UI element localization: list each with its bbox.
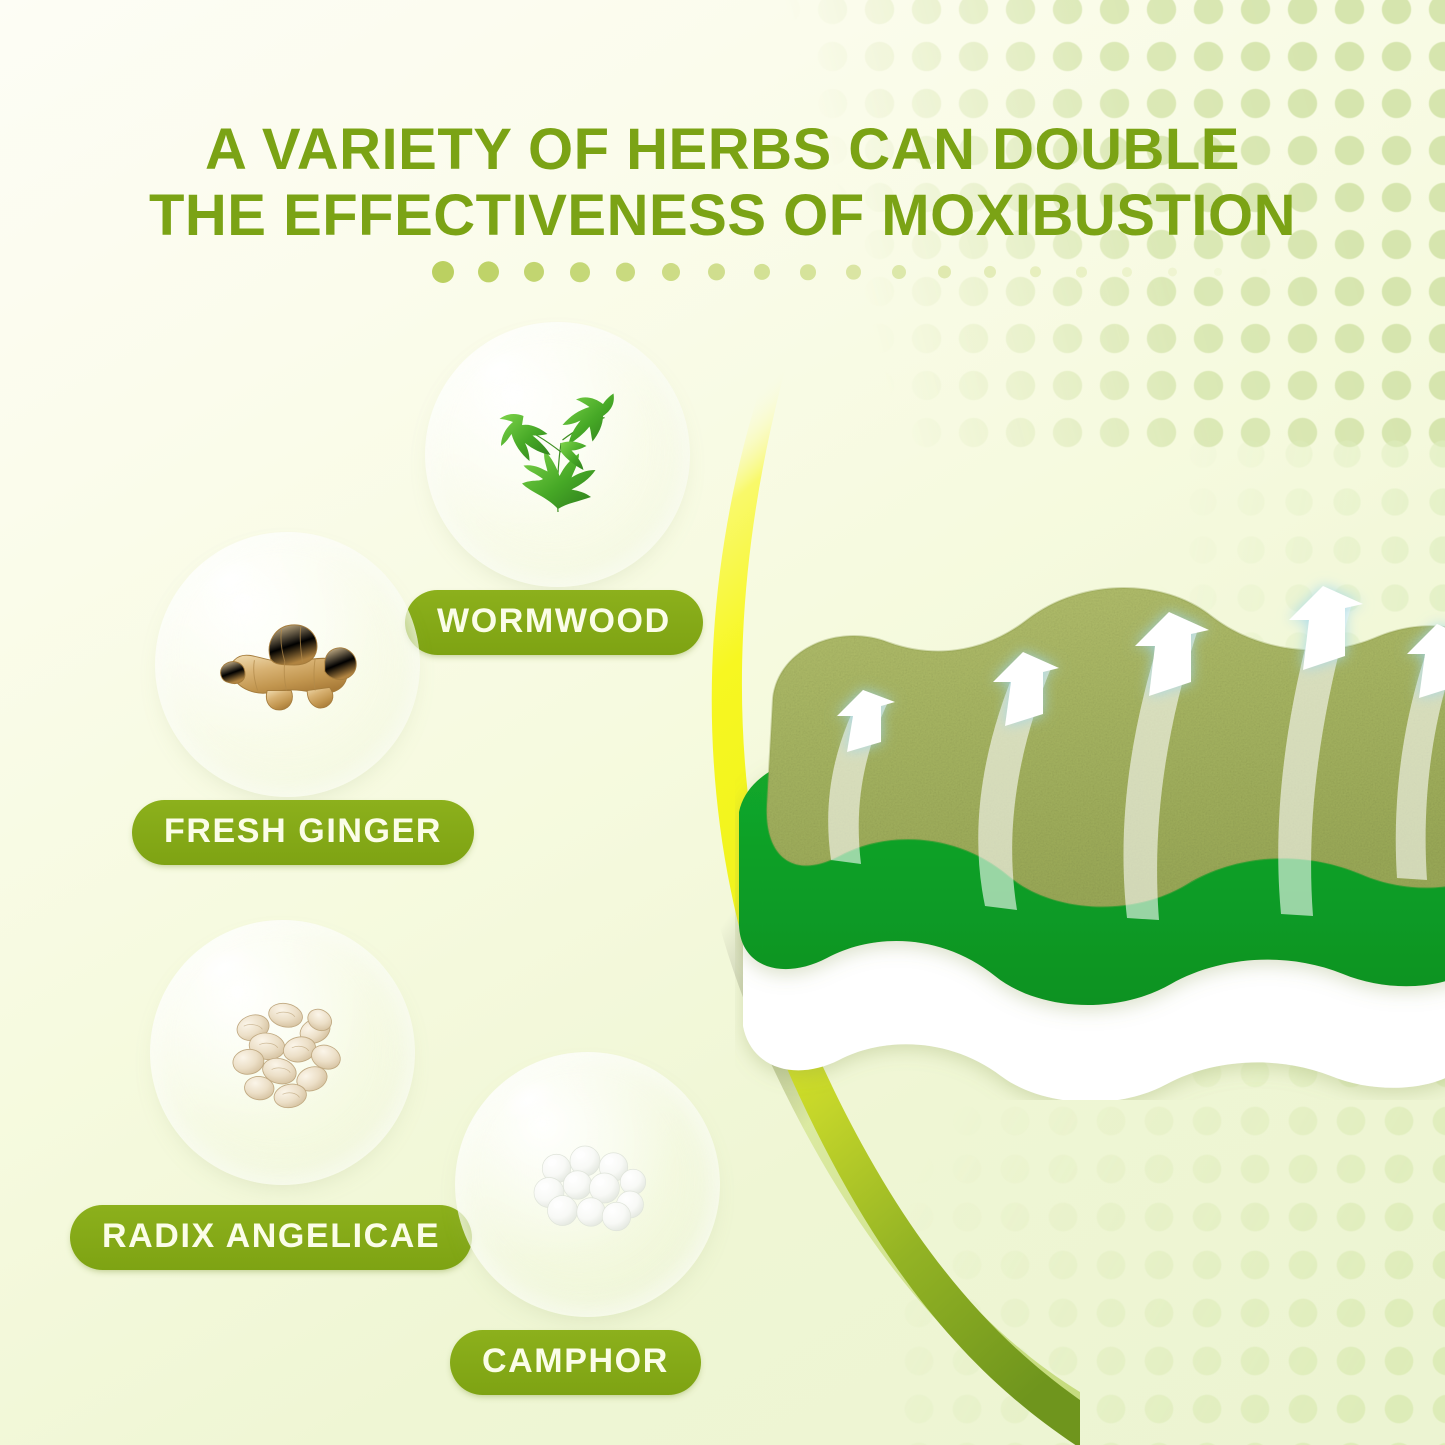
poster-canvas: A VARIETY OF HERBS CAN DOUBLE THE EFFECT… <box>0 0 1445 1445</box>
ginger-root-icon <box>208 585 368 745</box>
ingredient-bubble-wormwood[interactable] <box>425 322 690 587</box>
page-title-line-1: A VARIETY OF HERBS CAN DOUBLE <box>0 117 1445 183</box>
label-pill-radix-angelicae[interactable]: RADIX ANGELICAE <box>70 1205 472 1270</box>
camphor-balls-icon <box>513 1110 663 1260</box>
page-title: A VARIETY OF HERBS CAN DOUBLE THE EFFECT… <box>0 117 1445 249</box>
moxibustion-patch-diagram <box>735 520 1445 1100</box>
page-title-line-2: THE EFFECTIVENESS OF MOXIBUSTION <box>0 183 1445 249</box>
ingredient-bubble-radix-angelicae[interactable] <box>150 920 415 1185</box>
ingredient-bubble-fresh-ginger[interactable] <box>155 532 420 797</box>
label-pill-camphor[interactable]: CAMPHOR <box>450 1330 701 1395</box>
label-pill-fresh-ginger[interactable]: FRESH GINGER <box>132 800 474 865</box>
label-pill-wormwood[interactable]: WORMWOOD <box>405 590 703 655</box>
angelica-root-slices-icon <box>205 975 360 1130</box>
ingredient-bubble-camphor[interactable] <box>455 1052 720 1317</box>
wormwood-leaves-icon <box>483 380 633 530</box>
